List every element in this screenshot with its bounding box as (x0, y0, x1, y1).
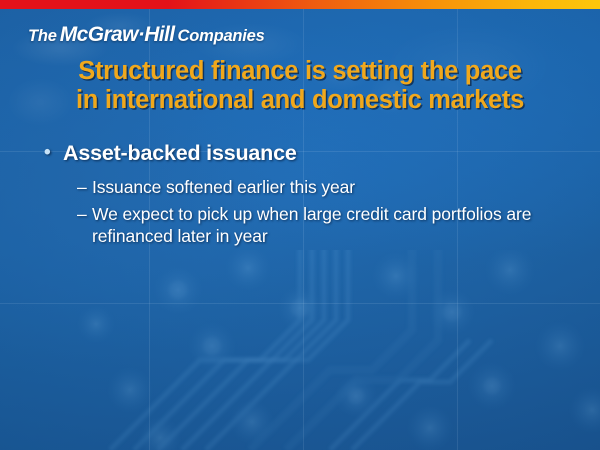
slide-title: Structured finance is setting the pace i… (20, 57, 580, 115)
logo-suffix: Companies (178, 27, 265, 45)
title-line-1: Structured finance is setting the pace (20, 57, 580, 86)
bullet-dash-icon: – (77, 203, 92, 225)
bullet-level2: – We expect to pick up when large credit… (77, 203, 574, 247)
bullet-level2-text: We expect to pick up when large credit c… (92, 203, 574, 247)
logo-brand: McGraw·Hill (60, 23, 175, 46)
title-line-2: in international and domestic markets (20, 86, 580, 115)
bullet-dot-icon: • (44, 143, 63, 162)
slide-body: • Asset-backed issuance – Issuance softe… (44, 141, 574, 253)
mcgraw-hill-logo: TheMcGraw·HillCompanies (28, 24, 265, 45)
bullet-level2: – Issuance softened earlier this year (77, 176, 574, 198)
logo-prefix: The (28, 27, 57, 45)
bullet-level2-text: Issuance softened earlier this year (92, 176, 574, 198)
top-gradient-rule (0, 0, 600, 9)
bullet-dash-icon: – (77, 176, 92, 198)
bullet-level1-text: Asset-backed issuance (63, 141, 297, 166)
bullet-level1: • Asset-backed issuance (44, 141, 574, 166)
presentation-slide: TheMcGraw·HillCompanies Structured finan… (0, 0, 600, 450)
